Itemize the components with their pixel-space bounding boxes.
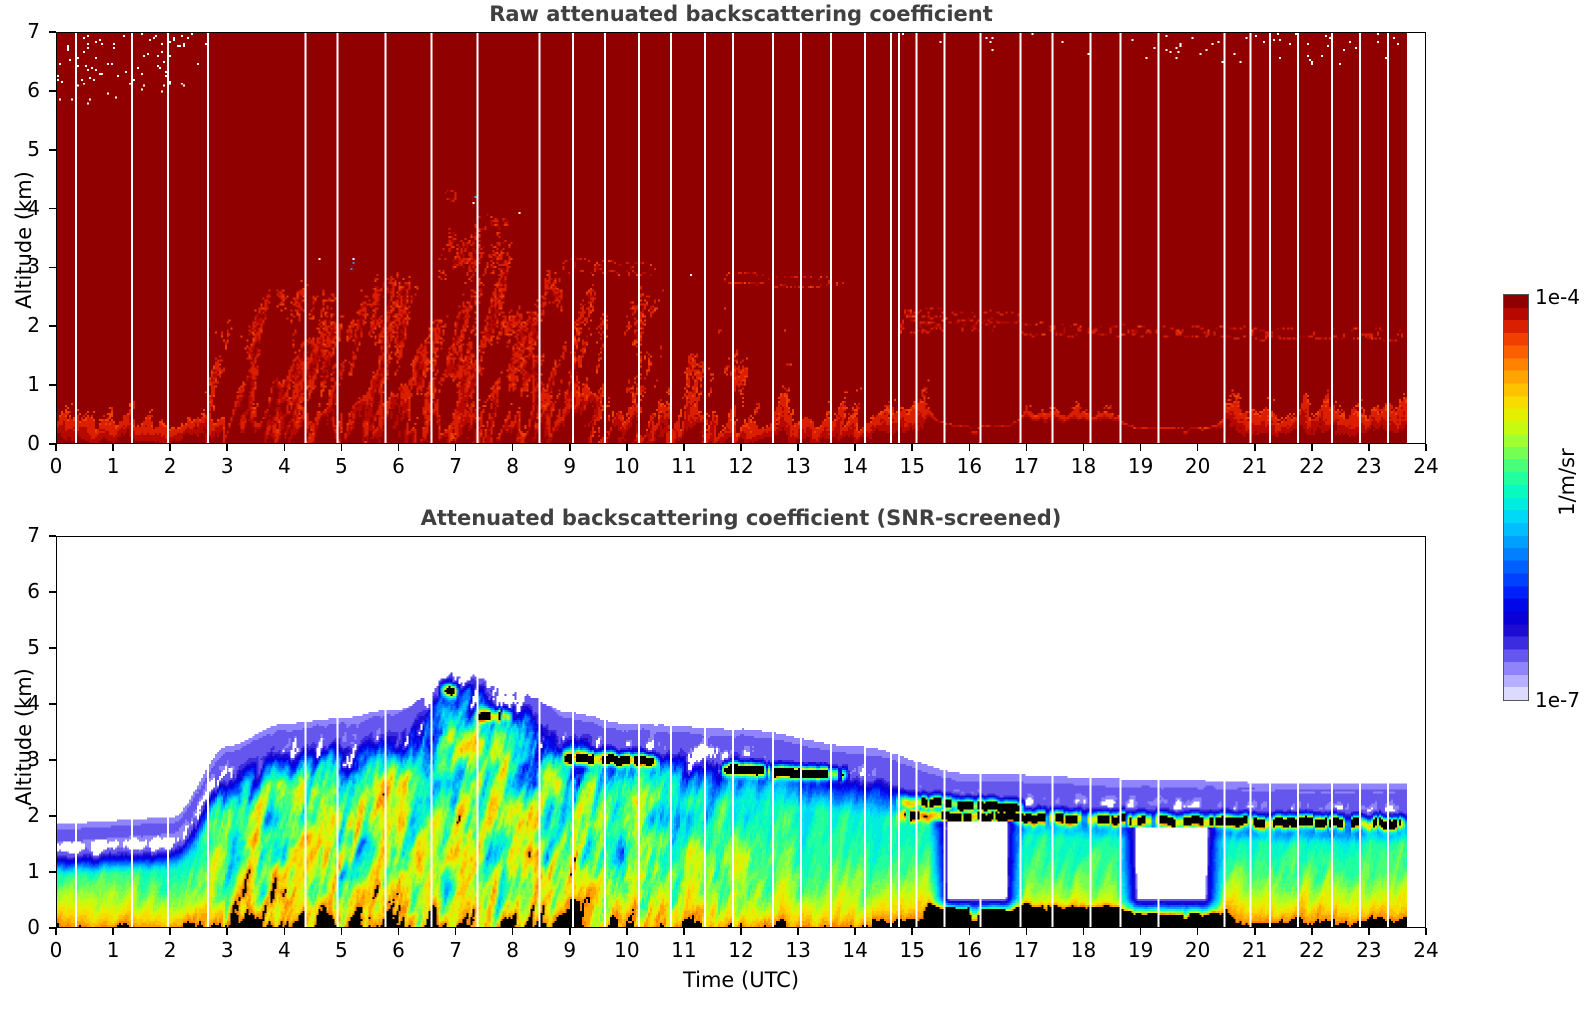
- x-tick-raw: [969, 444, 971, 451]
- x-tick-screen: [969, 928, 971, 935]
- x-tick-screen: [455, 928, 457, 935]
- x-tick-screen: [398, 928, 400, 935]
- x-tick-raw: [1197, 444, 1199, 451]
- y-ticklabel-raw-6: 6: [4, 78, 40, 102]
- x-ticklabel-raw-9: 9: [550, 454, 590, 478]
- x-tick-raw: [854, 444, 856, 451]
- x-tick-screen: [169, 928, 171, 935]
- x-ticklabel-raw-7: 7: [436, 454, 476, 478]
- y-tick-raw: [49, 208, 56, 210]
- x-ticklabel-screen-6: 6: [379, 938, 419, 962]
- x-ticklabel-raw-2: 2: [150, 454, 190, 478]
- y-axis-label-screened: Altitude (km): [12, 657, 36, 817]
- x-ticklabel-raw-4: 4: [264, 454, 304, 478]
- x-ticklabel-raw-19: 19: [1121, 454, 1161, 478]
- x-ticklabel-screen-17: 17: [1006, 938, 1046, 962]
- y-ticklabel-raw-2: 2: [4, 313, 40, 337]
- y-tick-raw: [49, 31, 56, 33]
- x-ticklabel-screen-0: 0: [36, 938, 76, 962]
- x-tick-raw: [169, 444, 171, 451]
- x-ticklabel-screen-23: 23: [1349, 938, 1389, 962]
- y-ticklabel-screen-5: 5: [4, 635, 40, 659]
- x-ticklabel-raw-1: 1: [93, 454, 133, 478]
- x-ticklabel-raw-15: 15: [892, 454, 932, 478]
- x-tick-screen: [1140, 928, 1142, 935]
- x-ticklabel-screen-1: 1: [93, 938, 133, 962]
- y-ticklabel-screen-6: 6: [4, 579, 40, 603]
- y-ticklabel-raw-7: 7: [4, 19, 40, 43]
- x-tick-raw: [626, 444, 628, 451]
- x-tick-screen: [1368, 928, 1370, 935]
- x-tick-raw: [284, 444, 286, 451]
- x-ticklabel-raw-6: 6: [379, 454, 419, 478]
- y-tick-screen: [49, 759, 56, 761]
- x-tick-raw: [226, 444, 228, 451]
- y-tick-screen: [49, 703, 56, 705]
- x-tick-raw: [341, 444, 343, 451]
- x-ticklabel-screen-24: 24: [1406, 938, 1446, 962]
- y-ticklabel-raw-4: 4: [4, 196, 40, 220]
- lidar-backscatter-figure: Raw attenuated backscattering coefficien…: [0, 0, 1595, 1020]
- x-ticklabel-raw-14: 14: [835, 454, 875, 478]
- x-tick-screen: [226, 928, 228, 935]
- x-tick-raw: [55, 444, 57, 451]
- y-tick-screen: [49, 871, 56, 873]
- x-ticklabel-raw-11: 11: [664, 454, 704, 478]
- x-tick-screen: [55, 928, 57, 935]
- colorbar-unit-label: 1/m/sr: [1555, 402, 1579, 562]
- y-tick-screen: [49, 815, 56, 817]
- x-tick-screen: [626, 928, 628, 935]
- x-tick-screen: [1026, 928, 1028, 935]
- x-tick-raw: [1254, 444, 1256, 451]
- x-ticklabel-screen-11: 11: [664, 938, 704, 962]
- x-tick-raw: [1311, 444, 1313, 451]
- x-axis-label-time: Time (UTC): [56, 968, 1426, 992]
- x-ticklabel-screen-13: 13: [778, 938, 818, 962]
- y-tick-raw: [49, 325, 56, 327]
- x-tick-screen: [284, 928, 286, 935]
- x-tick-raw: [683, 444, 685, 451]
- x-ticklabel-raw-16: 16: [949, 454, 989, 478]
- x-ticklabel-screen-22: 22: [1292, 938, 1332, 962]
- x-ticklabel-screen-18: 18: [1064, 938, 1104, 962]
- x-ticklabel-raw-12: 12: [721, 454, 761, 478]
- y-tick-screen: [49, 927, 56, 929]
- y-ticklabel-screen-3: 3: [4, 747, 40, 771]
- x-ticklabel-screen-19: 19: [1121, 938, 1161, 962]
- colorbar-min-label: 1e-7: [1535, 688, 1580, 712]
- x-tick-screen: [1425, 928, 1427, 935]
- x-tick-raw: [1140, 444, 1142, 451]
- y-tick-raw: [49, 384, 56, 386]
- x-tick-screen: [341, 928, 343, 935]
- x-tick-raw: [1026, 444, 1028, 451]
- y-ticklabel-raw-3: 3: [4, 254, 40, 278]
- plot-area-screened: [56, 536, 1426, 928]
- x-ticklabel-raw-3: 3: [207, 454, 247, 478]
- x-tick-screen: [1197, 928, 1199, 935]
- colorbar: [1503, 294, 1529, 701]
- heatmap-raw: [57, 33, 1425, 443]
- x-tick-raw: [797, 444, 799, 451]
- x-ticklabel-screen-14: 14: [835, 938, 875, 962]
- colorbar-max-label: 1e-4: [1535, 285, 1580, 309]
- x-tick-screen: [740, 928, 742, 935]
- x-tick-screen: [911, 928, 913, 935]
- colorbar-gradient: [1503, 294, 1529, 701]
- x-tick-raw: [740, 444, 742, 451]
- x-tick-raw: [455, 444, 457, 451]
- x-tick-screen: [854, 928, 856, 935]
- x-tick-raw: [398, 444, 400, 451]
- x-tick-raw: [569, 444, 571, 451]
- x-ticklabel-screen-21: 21: [1235, 938, 1275, 962]
- y-ticklabel-screen-1: 1: [4, 859, 40, 883]
- x-tick-screen: [112, 928, 114, 935]
- y-ticklabel-screen-7: 7: [4, 523, 40, 547]
- x-ticklabel-raw-18: 18: [1064, 454, 1104, 478]
- y-tick-screen: [49, 647, 56, 649]
- x-ticklabel-raw-24: 24: [1406, 454, 1446, 478]
- x-tick-screen: [1254, 928, 1256, 935]
- x-tick-raw: [911, 444, 913, 451]
- x-ticklabel-screen-12: 12: [721, 938, 761, 962]
- x-ticklabel-screen-5: 5: [321, 938, 361, 962]
- x-tick-raw: [1083, 444, 1085, 451]
- x-ticklabel-raw-21: 21: [1235, 454, 1275, 478]
- x-tick-raw: [1368, 444, 1370, 451]
- x-ticklabel-raw-0: 0: [36, 454, 76, 478]
- y-ticklabel-screen-4: 4: [4, 691, 40, 715]
- x-tick-screen: [569, 928, 571, 935]
- panel-title-screened: Attenuated backscattering coefficient (S…: [56, 506, 1426, 530]
- x-tick-screen: [512, 928, 514, 935]
- x-tick-screen: [797, 928, 799, 935]
- y-ticklabel-raw-0: 0: [4, 431, 40, 455]
- y-ticklabel-raw-1: 1: [4, 372, 40, 396]
- x-ticklabel-screen-9: 9: [550, 938, 590, 962]
- y-ticklabel-screen-2: 2: [4, 803, 40, 827]
- x-tick-raw: [1425, 444, 1427, 451]
- y-tick-screen: [49, 591, 56, 593]
- x-ticklabel-screen-3: 3: [207, 938, 247, 962]
- y-tick-raw: [49, 90, 56, 92]
- y-tick-raw: [49, 267, 56, 269]
- x-ticklabel-screen-8: 8: [493, 938, 533, 962]
- x-ticklabel-raw-22: 22: [1292, 454, 1332, 478]
- y-ticklabel-screen-0: 0: [4, 915, 40, 939]
- y-tick-raw: [49, 149, 56, 151]
- x-tick-raw: [512, 444, 514, 451]
- x-ticklabel-raw-8: 8: [493, 454, 533, 478]
- x-tick-screen: [1311, 928, 1313, 935]
- x-ticklabel-raw-20: 20: [1178, 454, 1218, 478]
- y-ticklabel-raw-5: 5: [4, 137, 40, 161]
- x-tick-raw: [112, 444, 114, 451]
- panel-title-raw: Raw attenuated backscattering coefficien…: [56, 2, 1426, 26]
- y-tick-raw: [49, 443, 56, 445]
- x-tick-screen: [1083, 928, 1085, 935]
- x-ticklabel-screen-4: 4: [264, 938, 304, 962]
- heatmap-screened: [57, 537, 1425, 927]
- x-ticklabel-screen-7: 7: [436, 938, 476, 962]
- x-ticklabel-raw-13: 13: [778, 454, 818, 478]
- x-ticklabel-raw-5: 5: [321, 454, 361, 478]
- plot-area-raw: [56, 32, 1426, 444]
- x-ticklabel-screen-15: 15: [892, 938, 932, 962]
- x-tick-screen: [683, 928, 685, 935]
- y-tick-screen: [49, 535, 56, 537]
- x-ticklabel-screen-10: 10: [607, 938, 647, 962]
- x-ticklabel-screen-20: 20: [1178, 938, 1218, 962]
- x-ticklabel-screen-2: 2: [150, 938, 190, 962]
- x-ticklabel-raw-10: 10: [607, 454, 647, 478]
- x-ticklabel-raw-23: 23: [1349, 454, 1389, 478]
- y-axis-label-raw: Altitude (km): [12, 160, 36, 320]
- x-ticklabel-screen-16: 16: [949, 938, 989, 962]
- x-ticklabel-raw-17: 17: [1006, 454, 1046, 478]
